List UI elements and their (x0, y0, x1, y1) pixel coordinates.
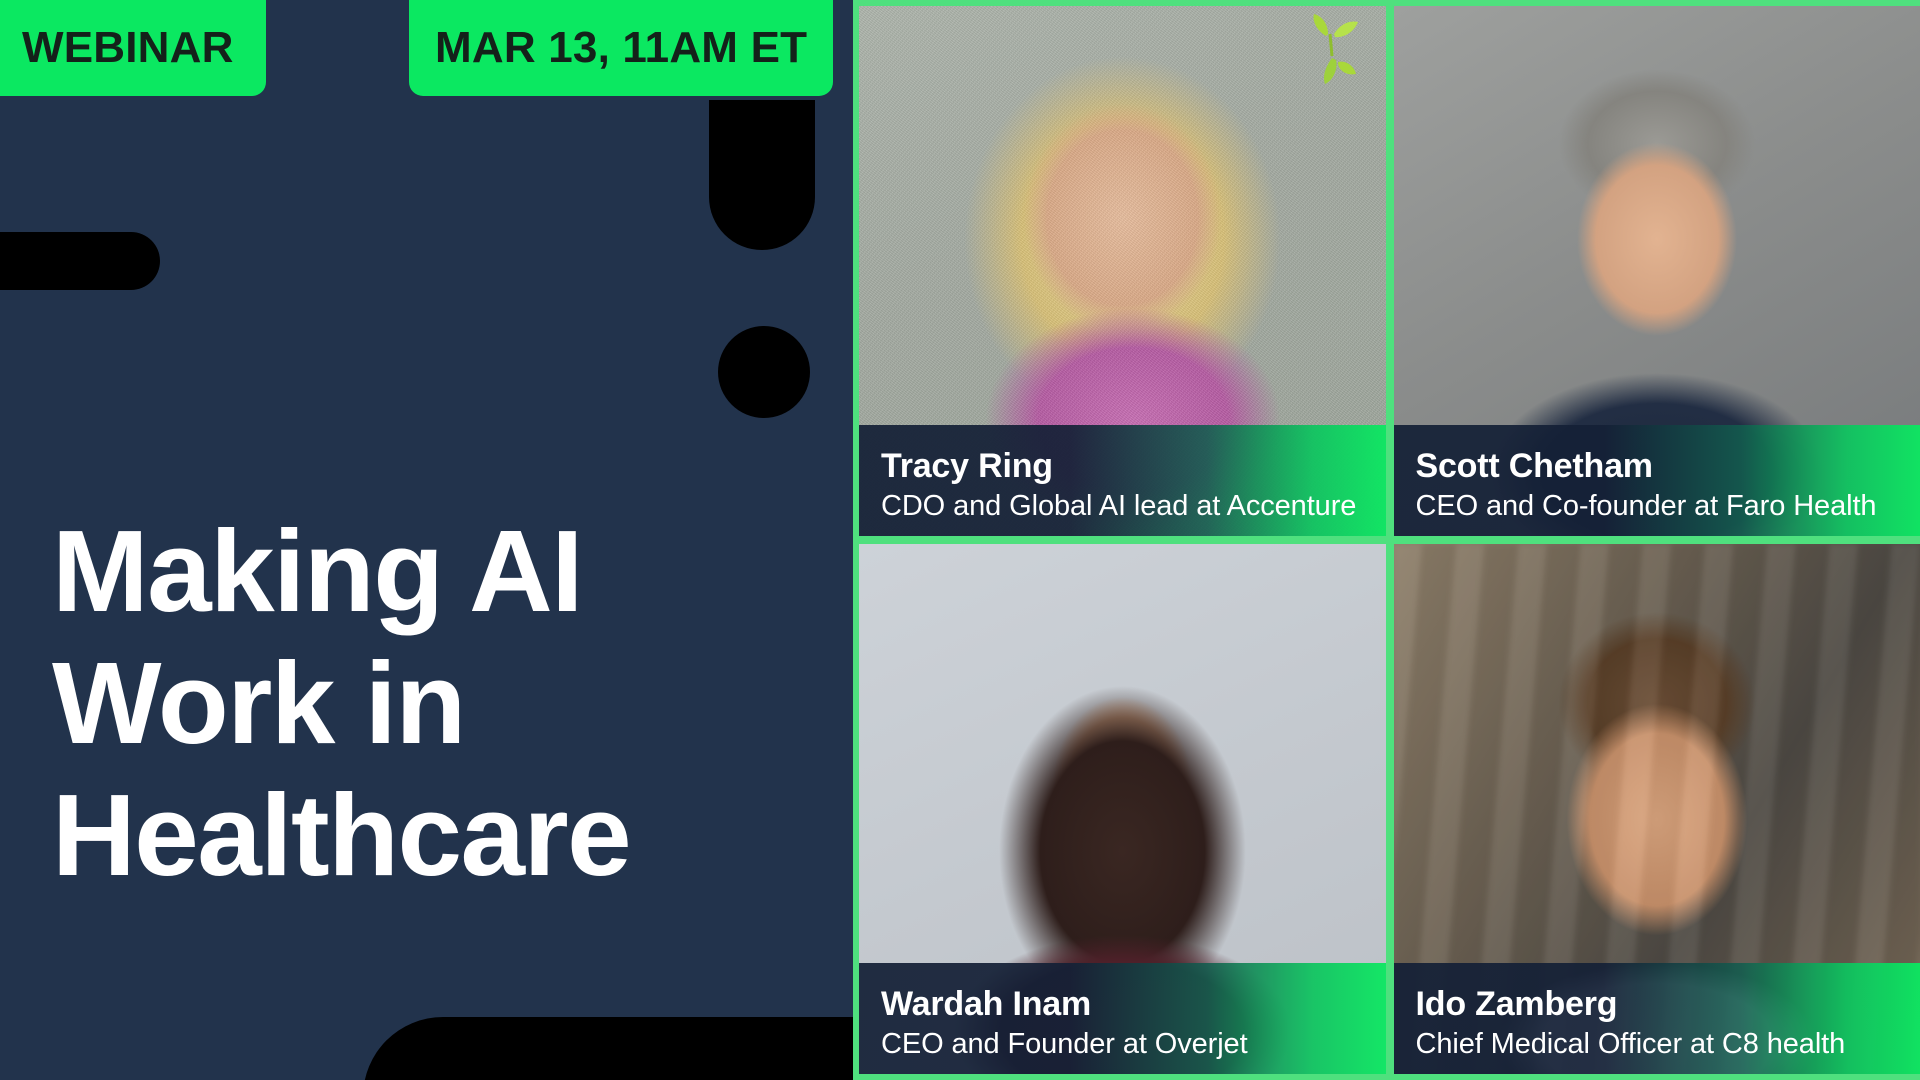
speaker-tile: Tracy Ring CDO and Global AI lead at Acc… (859, 6, 1386, 536)
speaker-photo-grid: Tracy Ring CDO and Global AI lead at Acc… (853, 0, 1920, 1080)
speaker-caption: Wardah Inam CEO and Founder at Overjet (859, 963, 1386, 1074)
webinar-date-badge-label: MAR 13, 11AM ET (435, 23, 807, 73)
decorative-pill-top-shape (709, 100, 815, 250)
speaker-name: Tracy Ring (881, 447, 1386, 486)
speaker-caption: Tracy Ring CDO and Global AI lead at Acc… (859, 425, 1386, 536)
speaker-name: Wardah Inam (881, 985, 1386, 1024)
speaker-tile: Wardah Inam CEO and Founder at Overjet (859, 544, 1386, 1074)
webinar-date-badge: MAR 13, 11AM ET (409, 0, 833, 96)
webinar-promo-graphic: WEBINAR MAR 13, 11AM ET Making AI Work i… (0, 0, 1920, 1080)
page-title: Making AI Work in Healthcare (52, 505, 812, 902)
left-panel: WEBINAR MAR 13, 11AM ET Making AI Work i… (0, 0, 853, 1080)
speaker-caption: Ido Zamberg Chief Medical Officer at C8 … (1394, 963, 1920, 1074)
decorative-ellipse-shape (718, 326, 810, 418)
speaker-role: CEO and Co-founder at Faro Health (1416, 489, 1920, 524)
decorative-corner-bottom-shape (363, 1017, 853, 1080)
speaker-name: Ido Zamberg (1416, 985, 1920, 1024)
page-title-line-2: Work in (52, 637, 812, 769)
speaker-role: Chief Medical Officer at C8 health (1416, 1027, 1920, 1062)
speaker-name: Scott Chetham (1416, 447, 1920, 486)
speaker-role: CDO and Global AI lead at Accenture (881, 489, 1386, 524)
page-title-line-3: Healthcare (52, 769, 812, 901)
speaker-tile: Ido Zamberg Chief Medical Officer at C8 … (1394, 544, 1920, 1074)
plant-icon (1296, 10, 1370, 96)
webinar-type-badge-label: WEBINAR (22, 23, 234, 73)
speaker-tile: Scott Chetham CEO and Co-founder at Faro… (1394, 6, 1920, 536)
decorative-pill-left-shape (0, 232, 160, 290)
page-title-line-1: Making AI (52, 505, 812, 637)
speaker-role: CEO and Founder at Overjet (881, 1027, 1386, 1062)
webinar-type-badge: WEBINAR (0, 0, 266, 96)
speaker-caption: Scott Chetham CEO and Co-founder at Faro… (1394, 425, 1920, 536)
